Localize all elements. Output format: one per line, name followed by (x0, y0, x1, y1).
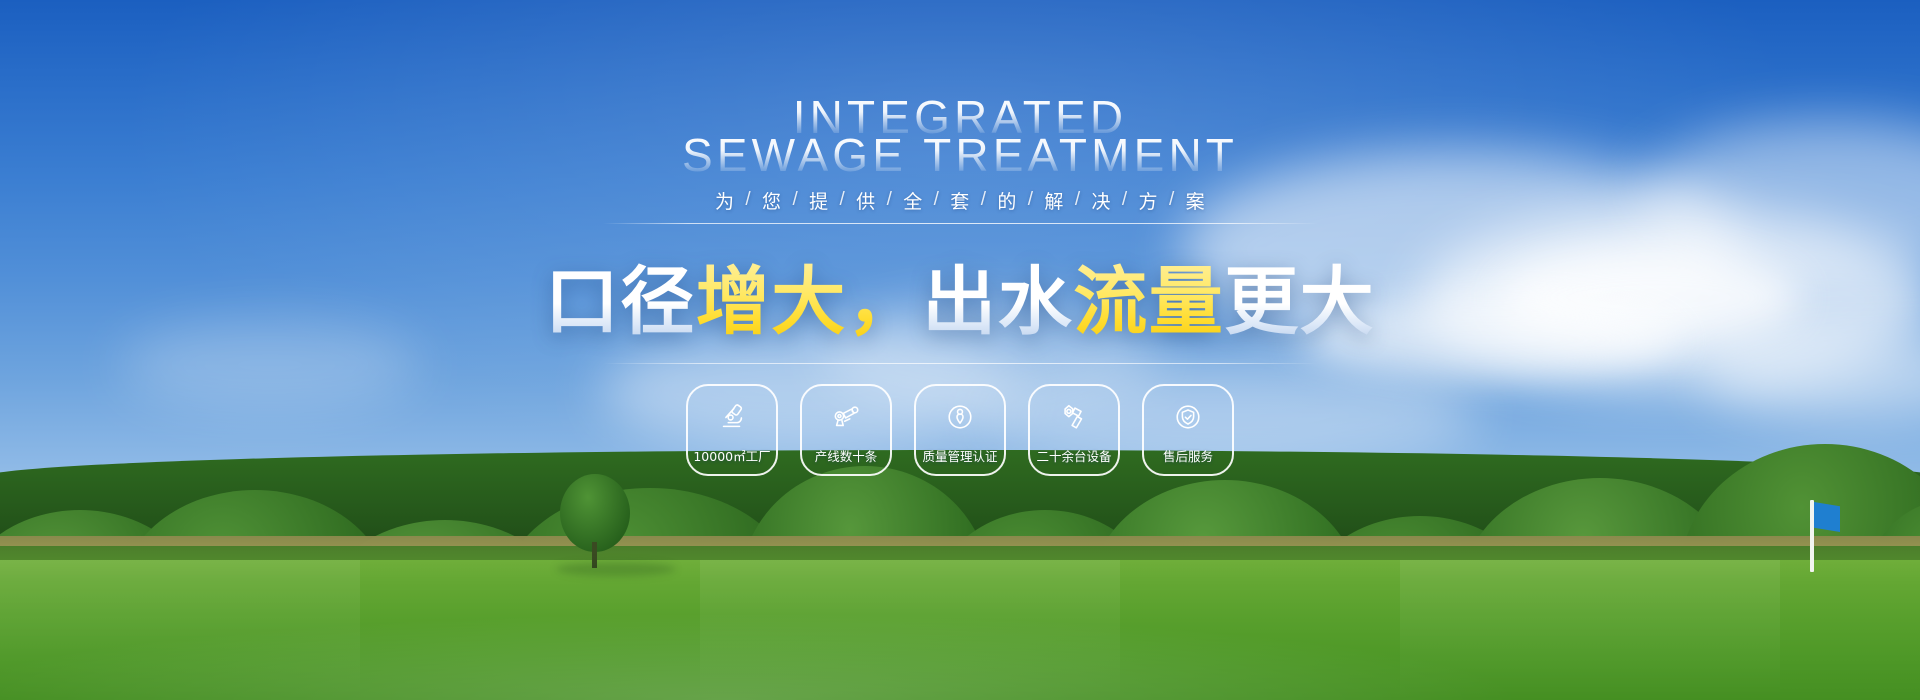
microscope-icon (717, 402, 747, 432)
subtitle-char: 提 (798, 187, 839, 214)
feature-badge[interactable]: 售后服务 (1142, 384, 1234, 476)
feature-badge-label: 10000㎡工厂 (693, 446, 770, 465)
headline-segment: 口径 (545, 259, 696, 345)
subtitle-char: 解 (1033, 187, 1074, 214)
subtitle-char: 的 (986, 187, 1027, 214)
divider-bottom (603, 363, 1318, 364)
english-title-line2: SEWAGE TREATMENT (682, 134, 1238, 176)
feature-badge[interactable]: 产线数十条 (800, 384, 892, 476)
subtitle-char: 为 (704, 187, 745, 214)
divider-top (603, 223, 1318, 224)
feature-badge-label: 售后服务 (1163, 446, 1213, 465)
feature-badge-label: 产线数十条 (815, 446, 878, 465)
quality-medal-icon (945, 402, 975, 432)
feature-badge[interactable]: 质量管理认证 (914, 384, 1006, 476)
feature-badge[interactable]: 二十余台设备 (1028, 384, 1120, 476)
headline-segment: ， (847, 259, 922, 345)
headline-segment: 更大 (1224, 259, 1375, 345)
banner-content: INTEGRATED SEWAGE TREATMENT 为/您/提/供/全/套/… (0, 0, 1920, 700)
subtitle-char: 方 (1128, 187, 1169, 214)
main-headline: 口径增大，出水流量更大 (545, 242, 1375, 349)
subtitle-char: 案 (1175, 187, 1216, 214)
bolt-nut-icon (1059, 402, 1089, 432)
feature-badge-label: 质量管理认证 (922, 446, 997, 465)
english-title: INTEGRATED SEWAGE TREATMENT (682, 96, 1238, 177)
feature-badge-label: 二十余台设备 (1036, 446, 1111, 465)
headline-segment: 出水 (922, 259, 1073, 345)
feature-badge[interactable]: 10000㎡工厂 (686, 384, 778, 476)
subtitle-char: 您 (751, 187, 792, 214)
headline-segment: 增大 (696, 259, 847, 345)
feature-badges: 10000㎡工厂产线数十条质量管理认证二十余台设备售后服务 (686, 384, 1234, 476)
shield-check-icon (1173, 402, 1203, 432)
subtitle-char: 供 (845, 187, 886, 214)
subtitle-char: 全 (892, 187, 933, 214)
hero-banner: INTEGRATED SEWAGE TREATMENT 为/您/提/供/全/套/… (0, 0, 1920, 700)
subtitle-char: 套 (939, 187, 980, 214)
headline-segment: 流量 (1073, 259, 1224, 345)
subtitle-char: 决 (1080, 187, 1121, 214)
subtitle-slash-line: 为/您/提/供/全/套/的/解/决/方/案 (704, 187, 1216, 214)
production-machine-icon (831, 402, 861, 432)
